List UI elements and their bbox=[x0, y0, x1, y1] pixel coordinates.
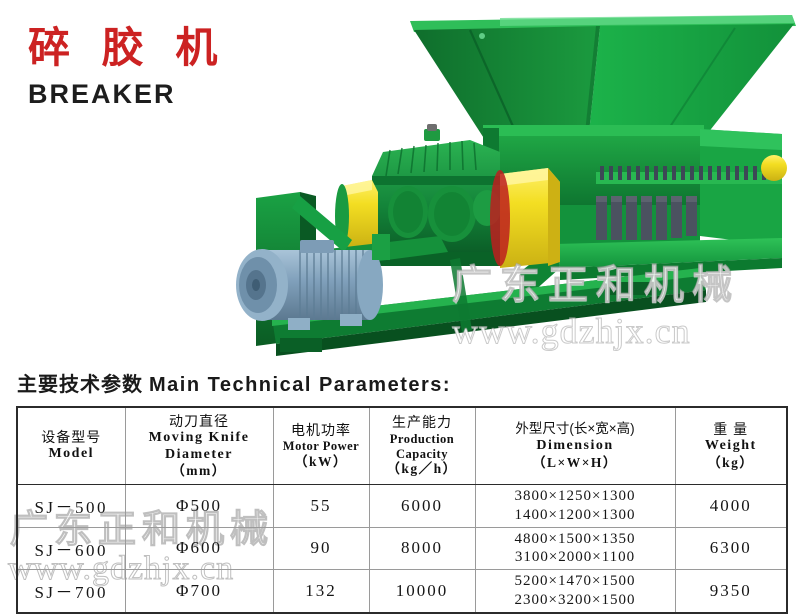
col-header-knife-diameter-en1: Moving Knife bbox=[128, 430, 271, 447]
col-header-capacity-en2: Capacity bbox=[372, 447, 473, 462]
section-heading: 主要技术参数Main Technical Parameters: bbox=[17, 368, 451, 397]
col-header-knife-diameter-cn: 动刀直径 bbox=[128, 413, 271, 431]
cell-dimension-line1: 3800×1250×1300 bbox=[478, 487, 673, 506]
col-header-weight-en: Weight bbox=[678, 438, 785, 455]
col-header-motor-power: 电机功率 Motor Power （kW） bbox=[273, 407, 369, 485]
col-header-dimension-en: Dimension bbox=[478, 438, 673, 455]
col-header-capacity-unit: （kg／h） bbox=[372, 461, 473, 477]
section-heading-cn: 主要技术参数 bbox=[17, 374, 143, 396]
cell-dimension: 3800×1250×1300 1400×1200×1300 bbox=[475, 485, 675, 528]
cell-knife-diameter: Φ600 bbox=[125, 527, 273, 570]
electric-motor bbox=[236, 240, 383, 330]
table-row: SJ－700 Φ700 132 10000 5200×1470×1500 230… bbox=[17, 570, 787, 613]
cell-capacity: 6000 bbox=[369, 485, 475, 528]
col-header-motor-power-unit: （kW） bbox=[276, 454, 367, 470]
cell-weight: 4000 bbox=[675, 485, 787, 528]
col-header-capacity-en1: Production bbox=[372, 432, 473, 447]
col-header-dimension: 外型尺寸(长×宽×高) Dimension （L×W×H） bbox=[475, 407, 675, 485]
col-header-knife-diameter: 动刀直径 Moving Knife Diameter （mm） bbox=[125, 407, 273, 485]
col-header-motor-power-cn: 电机功率 bbox=[276, 422, 367, 440]
col-header-knife-diameter-en2: Diameter bbox=[128, 447, 271, 464]
table-row: SJ－500 Φ500 55 6000 3800×1250×1300 1400×… bbox=[17, 485, 787, 528]
cell-capacity: 10000 bbox=[369, 570, 475, 613]
col-header-weight: 重 量 Weight （kg） bbox=[675, 407, 787, 485]
col-header-dimension-cn: 外型尺寸(长×宽×高) bbox=[478, 421, 673, 438]
cell-dimension-line2: 2300×3200×1500 bbox=[478, 591, 673, 610]
cell-model: SJ－500 bbox=[17, 485, 125, 528]
cell-dimension-line2: 3100×2000×1100 bbox=[478, 548, 673, 567]
cell-capacity: 8000 bbox=[369, 527, 475, 570]
page-title: 碎 胶 机 BREAKER bbox=[28, 26, 227, 110]
cell-model: SJ－700 bbox=[17, 570, 125, 613]
hopper bbox=[410, 15, 796, 143]
table-body: SJ－500 Φ500 55 6000 3800×1250×1300 1400×… bbox=[17, 485, 787, 613]
cell-knife-diameter: Φ500 bbox=[125, 485, 273, 528]
col-header-weight-unit: （kg） bbox=[678, 455, 785, 471]
col-header-dimension-unit: （L×W×H） bbox=[478, 455, 673, 471]
product-sheet-page: 碎 胶 机 BREAKER 广东正和机械 www.gdzhjx.cn 主要技术参… bbox=[0, 0, 800, 612]
cell-weight: 9350 bbox=[675, 570, 787, 613]
cell-motor-power: 90 bbox=[273, 527, 369, 570]
cell-dimension-line2: 1400×1200×1300 bbox=[478, 506, 673, 525]
cell-motor-power: 132 bbox=[273, 570, 369, 613]
pulley-disc bbox=[490, 170, 510, 266]
col-header-model: 设备型号 Model bbox=[17, 407, 125, 485]
col-header-motor-power-en: Motor Power bbox=[276, 439, 367, 454]
cell-dimension-line1: 5200×1470×1500 bbox=[478, 572, 673, 591]
cell-model: SJ－600 bbox=[17, 527, 125, 570]
col-header-model-en: Model bbox=[20, 446, 123, 463]
col-header-capacity-cn: 生产能力 bbox=[372, 414, 473, 432]
table-row: SJ－600 Φ600 90 8000 4800×1500×1350 3100×… bbox=[17, 527, 787, 570]
title-chinese: 碎 胶 机 bbox=[28, 26, 227, 70]
cell-knife-diameter: Φ700 bbox=[125, 570, 273, 613]
col-header-weight-cn: 重 量 bbox=[678, 421, 785, 439]
title-english: BREAKER bbox=[28, 79, 227, 110]
specifications-table: 设备型号 Model 动刀直径 Moving Knife Diameter （m… bbox=[16, 406, 788, 614]
col-header-capacity: 生产能力 Production Capacity （kg／h） bbox=[369, 407, 475, 485]
cell-weight: 6300 bbox=[675, 527, 787, 570]
cell-dimension-line1: 4800×1500×1350 bbox=[478, 530, 673, 549]
cell-dimension: 4800×1500×1350 3100×2000×1100 bbox=[475, 527, 675, 570]
section-heading-en: Main Technical Parameters: bbox=[149, 374, 451, 396]
shaft-cover bbox=[372, 234, 390, 260]
col-header-model-cn: 设备型号 bbox=[20, 429, 123, 447]
cell-motor-power: 55 bbox=[273, 485, 369, 528]
col-header-knife-diameter-unit: （mm） bbox=[128, 463, 271, 479]
table-header-row: 设备型号 Model 动刀直径 Moving Knife Diameter （m… bbox=[17, 407, 787, 485]
cell-dimension: 5200×1470×1500 2300×3200×1500 bbox=[475, 570, 675, 613]
